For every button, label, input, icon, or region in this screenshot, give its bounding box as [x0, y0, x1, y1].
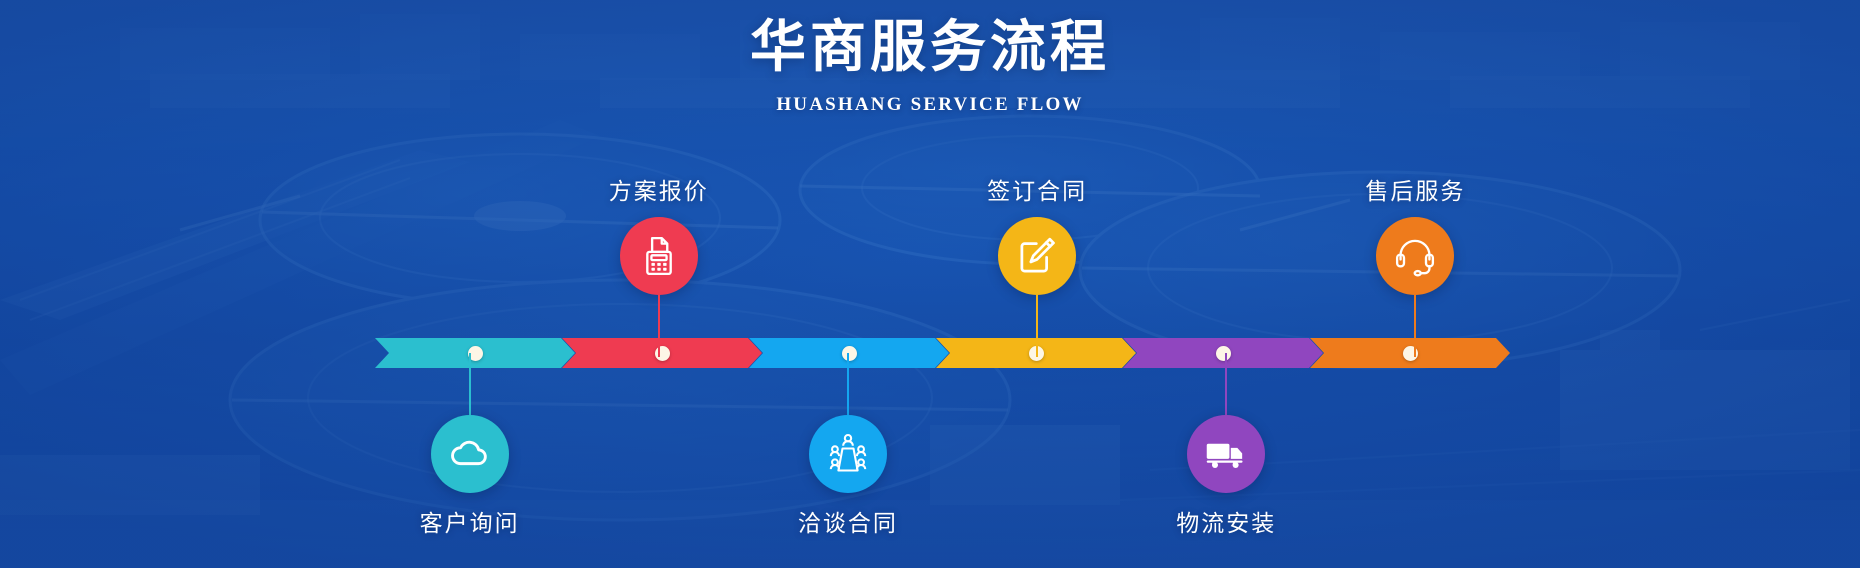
- flow-step-2[interactable]: 方案报价: [564, 172, 754, 357]
- flow-connector-3: [847, 353, 849, 415]
- headset-icon: [1393, 234, 1437, 278]
- flow-connector-2: [658, 295, 660, 357]
- flow-step-label-1: 客户询问: [375, 504, 565, 538]
- sign-pen-icon: [1015, 234, 1059, 278]
- flow-connector-5: [1225, 353, 1227, 415]
- flow-step-circle-4[interactable]: [998, 217, 1076, 295]
- flow-step-circle-6[interactable]: [1376, 217, 1454, 295]
- invoice-printer-icon: [637, 234, 681, 278]
- flow-step-3[interactable]: 洽谈合同: [753, 353, 943, 538]
- flow-step-1[interactable]: 客户询问: [375, 353, 565, 538]
- page-subtitle: HUASHANG SERVICE FLOW: [0, 94, 1860, 116]
- truck-icon: [1204, 432, 1248, 476]
- flow-step-circle-1[interactable]: [431, 415, 509, 493]
- cloud-icon: [448, 432, 492, 476]
- flow-step-6[interactable]: 售后服务: [1320, 172, 1510, 357]
- flow-step-label-4: 签订合同: [942, 172, 1132, 206]
- flow-step-circle-5[interactable]: [1187, 415, 1265, 493]
- flow-step-label-6: 售后服务: [1320, 172, 1510, 206]
- meeting-people-icon: [826, 432, 870, 476]
- flow-connector-6: [1414, 295, 1416, 357]
- flow-step-5[interactable]: 物流安装: [1131, 353, 1321, 538]
- flow-step-circle-3[interactable]: [809, 415, 887, 493]
- flow-step-label-2: 方案报价: [564, 172, 754, 206]
- flow-step-label-3: 洽谈合同: [753, 504, 943, 538]
- flow-connector-1: [469, 353, 471, 415]
- flow-step-circle-2[interactable]: [620, 217, 698, 295]
- flow-step-4[interactable]: 签订合同: [942, 172, 1132, 357]
- page-title: 华商服务流程: [0, 18, 1860, 78]
- flow-connector-4: [1036, 295, 1038, 357]
- header: 华商服务流程 HUASHANG SERVICE FLOW: [0, 18, 1860, 116]
- flow-step-label-5: 物流安装: [1131, 504, 1321, 538]
